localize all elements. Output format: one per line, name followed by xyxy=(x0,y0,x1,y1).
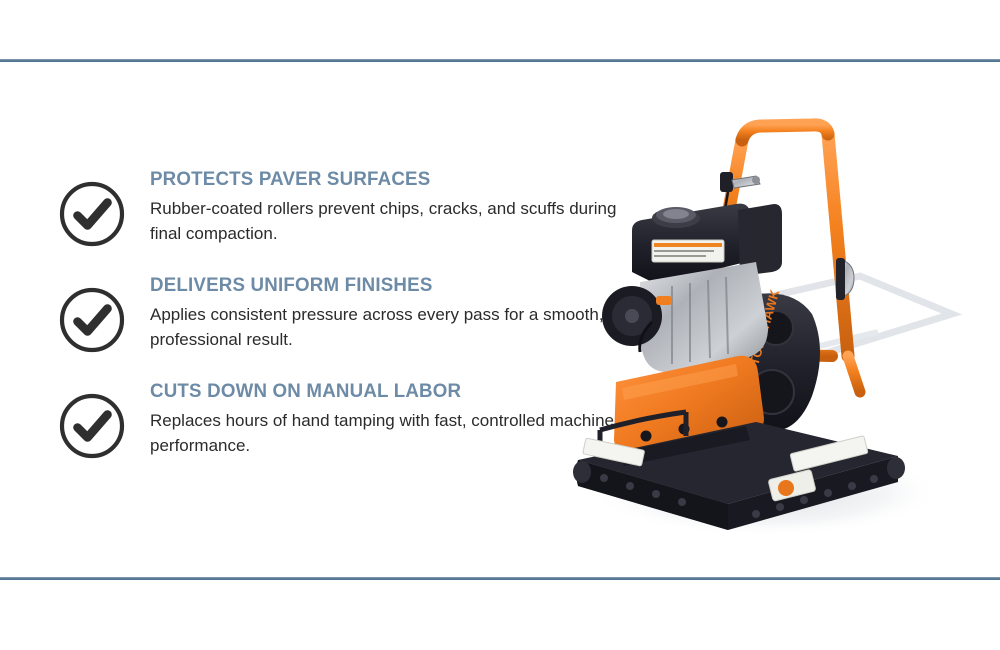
top-divider-rule xyxy=(0,59,1000,62)
bottom-divider-rule xyxy=(0,577,1000,580)
feature-item: CUTS DOWN ON MANUAL LABOR Replaces hours… xyxy=(58,380,618,478)
feature-description: Rubber-coated rollers prevent chips, cra… xyxy=(150,197,618,245)
feature-title: PROTECTS PAVER SURFACES xyxy=(150,168,599,190)
feature-description: Replaces hours of hand tamping with fast… xyxy=(150,409,618,457)
frame-clamp xyxy=(836,258,854,300)
engine-assembly xyxy=(602,204,782,372)
check-circle-icon xyxy=(58,180,126,248)
feature-item: PROTECTS PAVER SURFACES Rubber-coated ro… xyxy=(58,168,618,266)
check-circle-icon xyxy=(58,392,126,460)
benefits-panel: PROTECTS PAVER SURFACES Rubber-coated ro… xyxy=(0,0,1000,650)
feature-list: PROTECTS PAVER SURFACES Rubber-coated ro… xyxy=(58,168,618,478)
feature-title: DELIVERS UNIFORM FINISHES xyxy=(150,274,599,296)
feature-item: DELIVERS UNIFORM FINISHES Applies consis… xyxy=(58,274,618,372)
feature-description: Applies consistent pressure across every… xyxy=(150,303,618,351)
feature-title: CUTS DOWN ON MANUAL LABOR xyxy=(150,380,599,402)
check-circle-icon xyxy=(58,286,126,354)
plate-compactor-photo: TOMAHAWK xyxy=(560,100,990,540)
